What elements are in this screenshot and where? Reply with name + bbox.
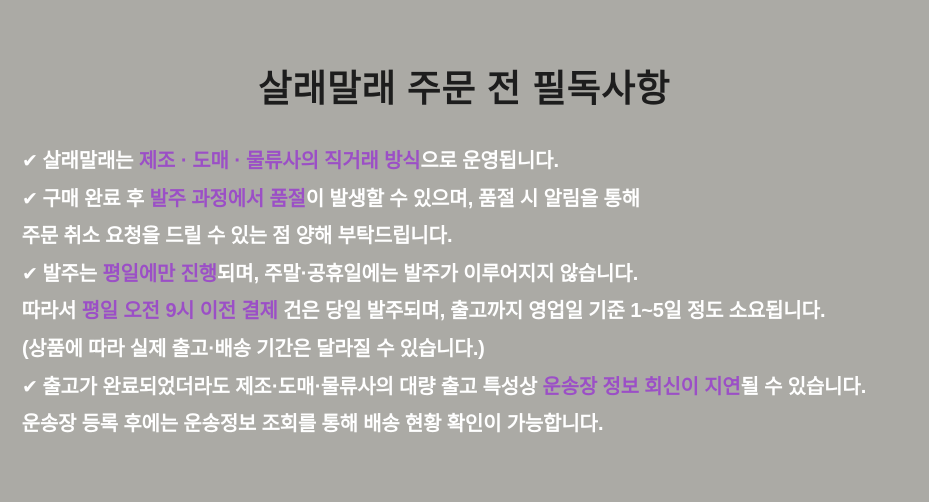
- highlighted-text: 평일에만 진행: [103, 263, 218, 285]
- notice-card: 살래말래 주문 전 필독사항 ✔살래말래는 제조 · 도매 · 물류사의 직거래…: [0, 0, 929, 502]
- highlighted-text: 발주 과정에서 품절: [150, 188, 306, 210]
- notice-line: ✔발주는 평일에만 진행되며, 주말·공휴일에는 발주가 이루어지지 않습니다.: [22, 256, 920, 294]
- notice-line: (상품에 따라 실제 출고·배송 기간은 달라질 수 있습니다.): [22, 331, 920, 369]
- highlighted-text: 제조 · 도매 · 물류사의 직거래 방식: [139, 150, 421, 172]
- highlighted-text: 운송장 정보 회신이 지연: [543, 376, 741, 398]
- check-icon: ✔: [22, 369, 38, 407]
- body-text: 발주는: [43, 263, 103, 285]
- body-text: 따라서: [22, 300, 82, 322]
- notice-line: 주문 취소 요청을 드릴 수 있는 점 양해 부탁드립니다.: [22, 218, 920, 256]
- body-text: 구매 완료 후: [43, 188, 150, 210]
- body-text: 출고가 완료되었더라도 제조·도매·물류사의 대량 출고 특성상: [43, 376, 543, 398]
- body-text: 이 발생할 수 있으며, 품절 시 알림을 통해: [306, 188, 640, 210]
- notice-line: ✔살래말래는 제조 · 도매 · 물류사의 직거래 방식으로 운영됩니다.: [22, 143, 920, 181]
- body-text: (상품에 따라 실제 출고·배송 기간은 달라질 수 있습니다.): [22, 338, 485, 360]
- highlighted-text: 평일 오전 9시 이전 결제: [82, 300, 278, 322]
- body-text: 으로 운영됩니다.: [421, 150, 559, 172]
- page-title: 살래말래 주문 전 필독사항: [0, 58, 929, 112]
- notice-line: 따라서 평일 오전 9시 이전 결제 건은 당일 발주되며, 출고까지 영업일 …: [22, 293, 920, 331]
- body-text: 주문 취소 요청을 드릴 수 있는 점 양해 부탁드립니다.: [22, 225, 452, 247]
- notice-line: 운송장 등록 후에는 운송정보 조회를 통해 배송 현황 확인이 가능합니다.: [22, 406, 920, 444]
- body-text: 운송장 등록 후에는 운송정보 조회를 통해 배송 현황 확인이 가능합니다.: [22, 413, 603, 435]
- notice-line: ✔구매 완료 후 발주 과정에서 품절이 발생할 수 있으며, 품절 시 알림을…: [22, 181, 920, 219]
- check-icon: ✔: [22, 143, 38, 181]
- body-text: 되며, 주말·공휴일에는 발주가 이루어지지 않습니다.: [217, 263, 638, 285]
- body-text: 될 수 있습니다.: [741, 376, 866, 398]
- notice-body: ✔살래말래는 제조 · 도매 · 물류사의 직거래 방식으로 운영됩니다.✔구매…: [22, 143, 920, 444]
- check-icon: ✔: [22, 181, 38, 219]
- body-text: 건은 당일 발주되며, 출고까지 영업일 기준 1~5일 정도 소요됩니다.: [278, 300, 825, 322]
- check-icon: ✔: [22, 256, 38, 294]
- notice-line: ✔출고가 완료되었더라도 제조·도매·물류사의 대량 출고 특성상 운송장 정보…: [22, 369, 920, 407]
- body-text: 살래말래는: [43, 150, 139, 172]
